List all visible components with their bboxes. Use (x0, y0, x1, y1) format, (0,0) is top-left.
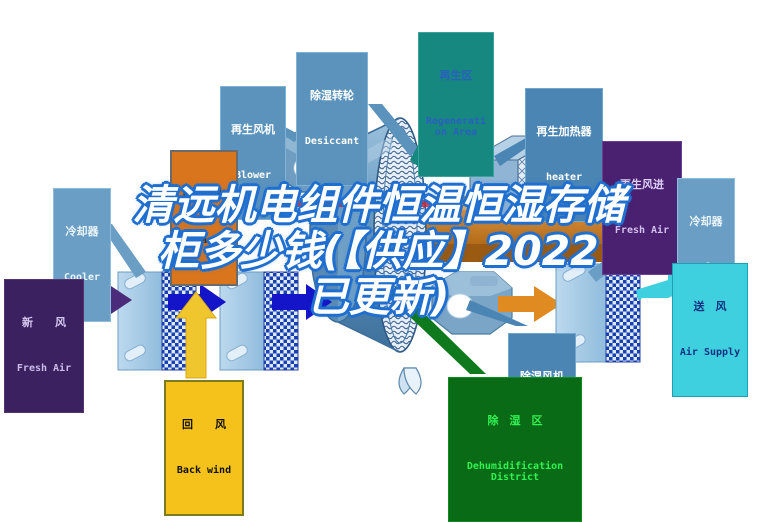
label-cooler-right-cn: 冷却器 (682, 216, 730, 228)
label-dehumidification-district[interactable]: 除 湿 区 Dehumidification District (448, 377, 582, 522)
label-regeneration-heater-en: heater (530, 173, 598, 184)
label-air-supply-en: Air Supply (677, 348, 743, 359)
label-regeneration-exhaust-cn: 再生风出 (176, 189, 232, 201)
label-regeneration-exhaust-en: Exhaust (176, 236, 232, 247)
label-regeneration-area-cn: 再生区 (423, 70, 489, 82)
label-regeneration-area-en: Regenerati on Area (423, 117, 489, 139)
label-fresh-air-inlet-en: Fresh Air (9, 364, 79, 375)
label-fresh-air-inlet[interactable]: 新 风 Fresh Air (4, 279, 84, 413)
label-regeneration-heater[interactable]: 再生加热器 heater (525, 88, 603, 222)
label-desiccant-wheel-en: Desiccant (301, 137, 363, 148)
label-regeneration-heater-cn: 再生加热器 (530, 126, 598, 138)
label-back-wind-en: Back wind (170, 466, 238, 477)
label-regeneration-fresh-air-cn: 再生风进 (607, 179, 677, 191)
dehumidifier-diagram: xt (0, 0, 757, 488)
label-regeneration-blower-cn: 再生风机 (225, 124, 281, 136)
label-fresh-air-inlet-cn: 新 风 (9, 317, 79, 329)
label-regeneration-exhaust[interactable]: 再生风出 Exhaust (170, 150, 238, 286)
label-cooler-left-cn: 冷却器 (58, 226, 106, 238)
label-desiccant-wheel[interactable]: 除湿转轮 Desiccant (296, 52, 368, 186)
label-regeneration-fresh-air[interactable]: 再生风进 Fresh Air (602, 141, 682, 275)
label-air-supply[interactable]: 送 风 Air Supply (672, 263, 748, 397)
label-regeneration-area[interactable]: 再生区 Regenerati on Area (418, 32, 494, 177)
label-dehumidification-district-cn: 除 湿 区 (453, 415, 577, 427)
condensate-drip (399, 368, 421, 394)
label-dehumidification-district-en: Dehumidification District (453, 462, 577, 484)
label-air-supply-cn: 送 风 (677, 301, 743, 313)
label-back-wind[interactable]: 回 风 Back wind (164, 380, 244, 516)
svg-text:xt: xt (330, 272, 342, 285)
label-back-wind-cn: 回 风 (170, 419, 238, 431)
label-desiccant-wheel-cn: 除湿转轮 (301, 90, 363, 102)
label-regeneration-fresh-air-en: Fresh Air (607, 226, 677, 237)
